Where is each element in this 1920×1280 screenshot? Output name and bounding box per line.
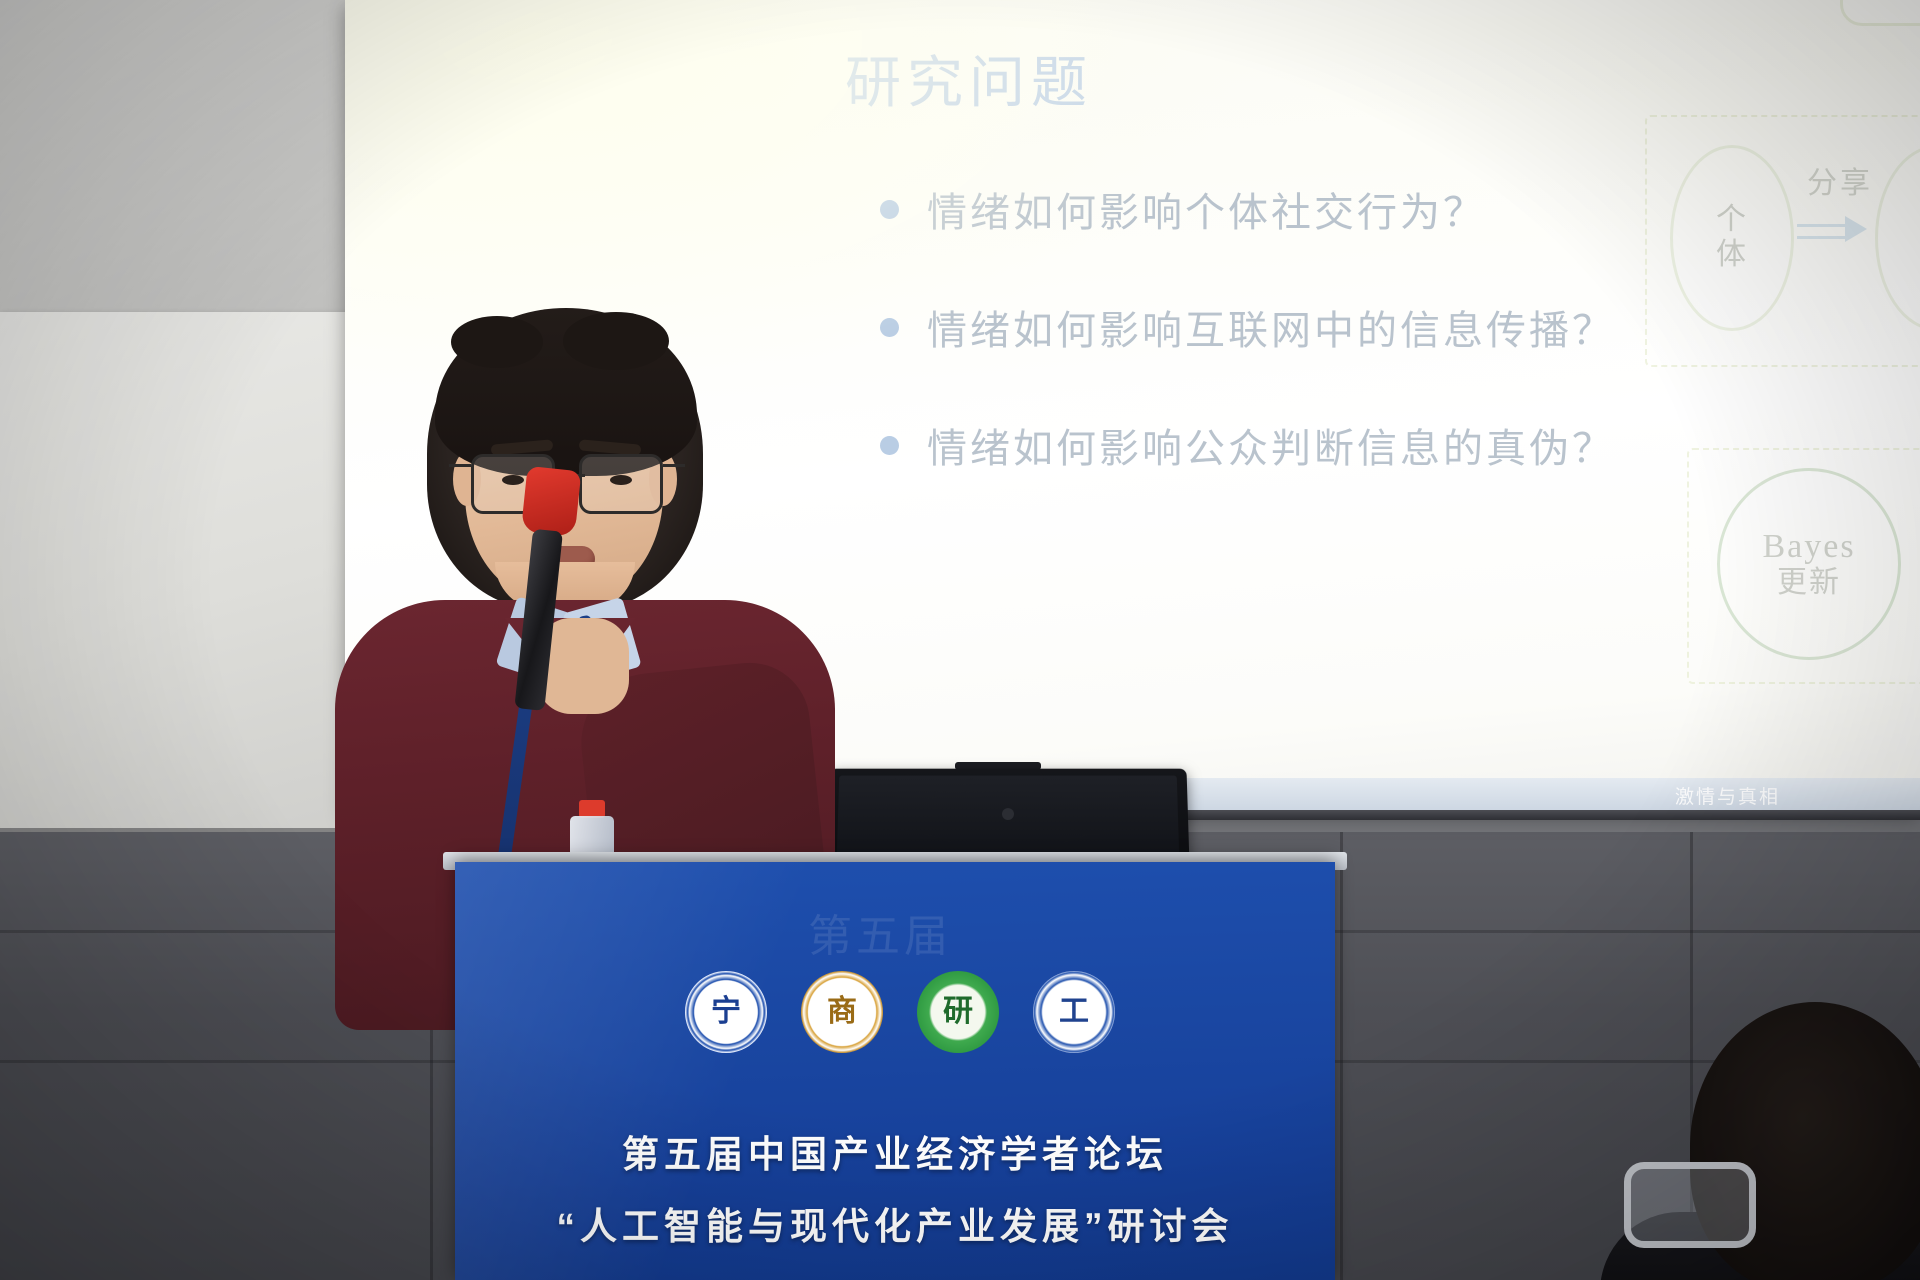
industry-forum-logo: 工 bbox=[1033, 971, 1115, 1053]
diagram-individual-node: 个 体 bbox=[1670, 145, 1794, 331]
diagram-share-label: 分享 bbox=[1807, 158, 1873, 202]
logo-glyph: 研 bbox=[943, 996, 973, 1028]
wall-vertical-seam bbox=[1340, 832, 1343, 1280]
slide-title: 研究问题 bbox=[845, 38, 1093, 119]
green-institute-logo: 研 bbox=[917, 971, 999, 1053]
node-line-1: 个 bbox=[1716, 203, 1748, 238]
slide-bullet-list: 情绪如何影响个体社交行为？ 情绪如何影响互联网中的信息传播？ 情绪如何影响公众判… bbox=[880, 150, 1640, 504]
node-line-1: Bayes bbox=[1762, 527, 1855, 566]
slide-footer-label: 激情与真相 bbox=[1675, 782, 1780, 809]
podium-title-line-1: 第五届中国产业经济学者论坛 bbox=[455, 1124, 1335, 1178]
speaker-hair-tuft bbox=[563, 312, 669, 370]
arrow-right-icon bbox=[1797, 218, 1869, 240]
podium-title-line-2: “人工智能与现代化产业发展”研讨会 bbox=[455, 1196, 1335, 1250]
slide-concept-diagram: 传播 个 体 分享 个 体 ··· 个 体 Bayes 更新 bbox=[1625, 0, 1920, 730]
slide-bullet-item: 情绪如何影响个体社交行为？ bbox=[880, 150, 1640, 268]
logo-glyph: 工 bbox=[1059, 996, 1089, 1028]
podium-watermark-text: 第五届 bbox=[560, 900, 1200, 970]
logo-glyph: 商 bbox=[827, 996, 857, 1028]
wall-panel-upper-left bbox=[0, 0, 345, 340]
eyeglass-temple-left bbox=[449, 464, 471, 467]
slide-bullet-text: 情绪如何影响公众判断信息的真伪？ bbox=[927, 416, 1615, 474]
speaker-hair-tuft bbox=[451, 316, 543, 368]
dot-bullet-icon bbox=[880, 436, 899, 455]
microphone-handle bbox=[514, 529, 563, 711]
podium-logo-row: 宁 商 研 工 bbox=[620, 966, 1180, 1058]
audience-eyeglasses bbox=[1624, 1162, 1756, 1248]
speaker-eye-right bbox=[610, 475, 632, 485]
wall-whiteboard bbox=[0, 312, 355, 832]
speaker-eye-left bbox=[502, 475, 524, 485]
node-line-2: 更新 bbox=[1777, 566, 1841, 601]
slide-bullet-item: 情绪如何影响公众判断信息的真伪？ bbox=[880, 386, 1640, 504]
ningbo-university-logo: 宁 bbox=[685, 971, 767, 1053]
slide-bullet-text: 情绪如何影响互联网中的信息传播？ bbox=[927, 298, 1615, 356]
logo-glyph: 宁 bbox=[711, 996, 741, 1028]
node-line-2: 体 bbox=[1716, 238, 1748, 273]
dot-bullet-icon bbox=[880, 318, 899, 337]
business-school-logo: 商 bbox=[801, 971, 883, 1053]
diagram-top-rounded-box bbox=[1840, 0, 1920, 26]
dot-bullet-icon bbox=[880, 200, 899, 219]
slide-bullet-text: 情绪如何影响个体社交行为？ bbox=[927, 180, 1486, 238]
microphone-head bbox=[521, 466, 582, 537]
conference-photo-scene: 研究问题 情绪如何影响个体社交行为？ 情绪如何影响互联网中的信息传播？ 情绪如何… bbox=[0, 0, 1920, 1280]
diagram-mechanism-node-bayes: Bayes 更新 bbox=[1717, 468, 1901, 660]
eyeglass-temple-right bbox=[663, 464, 685, 467]
laptop-camera-icon bbox=[1002, 808, 1014, 820]
slide-bullet-item: 情绪如何影响互联网中的信息传播？ bbox=[880, 268, 1640, 386]
eyeglass-lens-right bbox=[579, 454, 663, 514]
